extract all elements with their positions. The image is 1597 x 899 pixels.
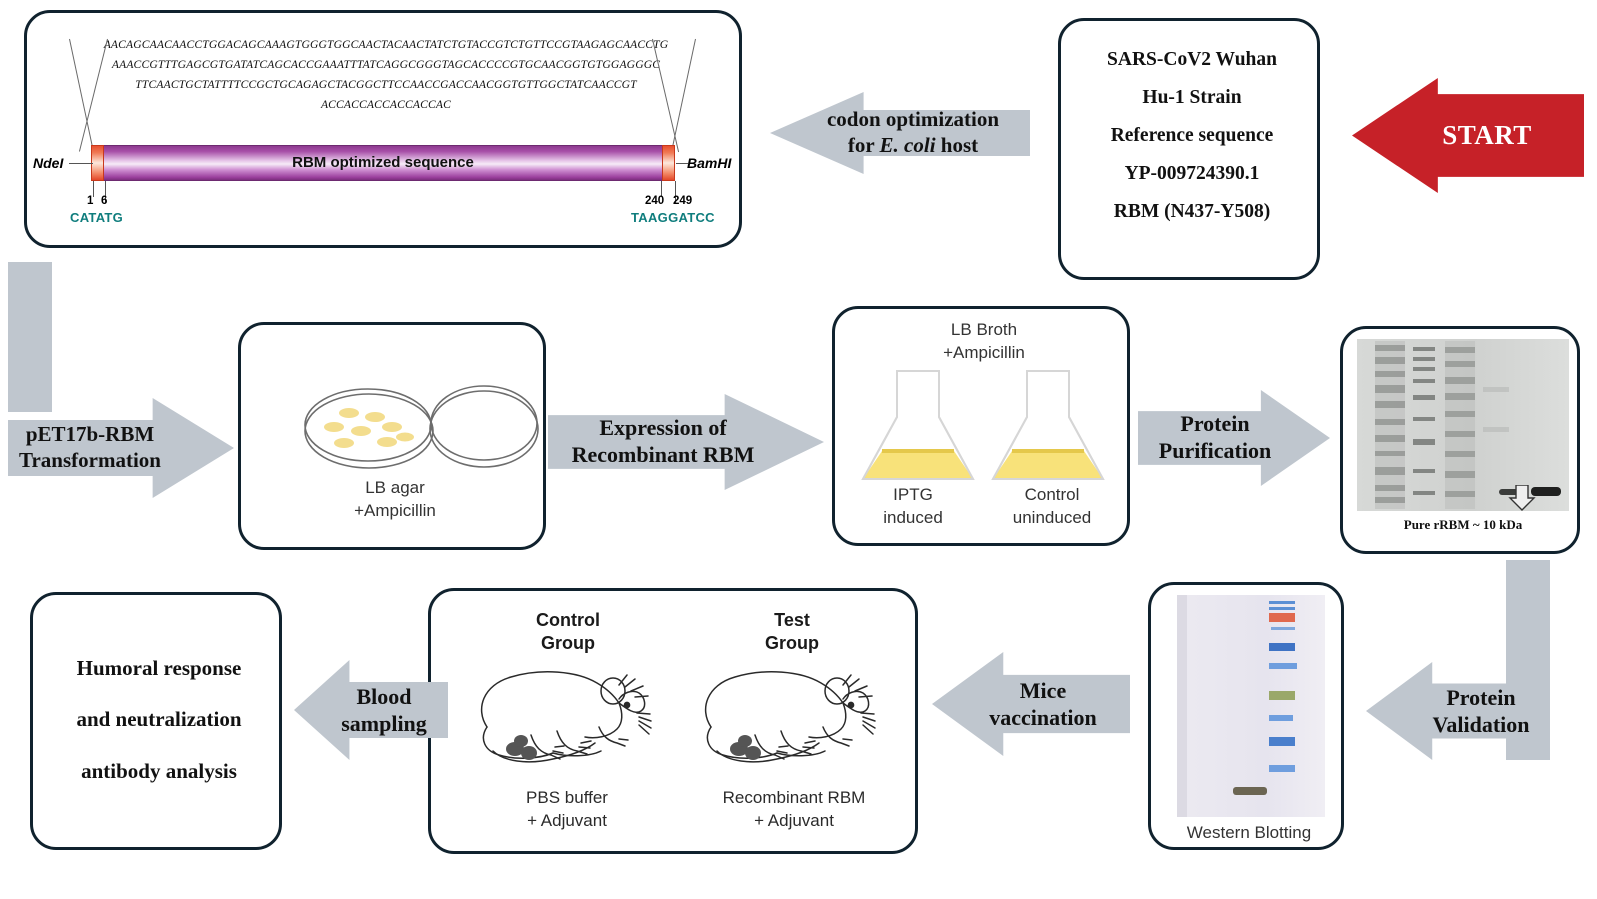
lb-broth-flask-box: LB Broth +Ampicillin IPTG induced Contro… [832, 306, 1130, 546]
right-enzyme-leader [676, 163, 688, 164]
reference-line-2: Hu-1 Strain [1061, 79, 1323, 117]
expression-arrow [548, 394, 824, 490]
gel-caption: Pure rRBM ~ 10 kDa [1343, 517, 1583, 533]
mice-vaccination-arrow [932, 652, 1130, 756]
left-enzyme-leader [69, 163, 93, 164]
results-box: Humoral response and neutralization anti… [30, 592, 282, 850]
number-249: 249 [673, 195, 692, 207]
cassette-label: RBM optimized sequence [91, 154, 675, 171]
reference-line-1: SARS-CoV2 Wuhan [1061, 41, 1323, 79]
reference-sequence-text: SARS-CoV2 Wuhan Hu-1 Strain Reference se… [1061, 41, 1323, 231]
reference-line-4: YP-009724390.1 [1061, 155, 1323, 193]
western-blot-caption: Western Blotting [1151, 823, 1347, 843]
left-enzyme-label: NdeI [33, 155, 63, 171]
test-group-subtitle: Recombinant RBM + Adjuvant [679, 787, 909, 833]
number-1: 1 [87, 195, 93, 207]
lb-agar-caption-line1: LB agar [241, 477, 549, 500]
sequence-line-3: TTCAACTGCTATTTTCCGCTGCAGAGCTACGGCTTCCAAC… [37, 75, 735, 95]
blood-sampling-arrow [294, 660, 448, 760]
control-sub-line1: PBS buffer [459, 787, 675, 810]
mice-groups-box: Control Group Test Group [428, 588, 918, 854]
iptg-label-line1: IPTG [853, 484, 973, 507]
number-6: 6 [101, 195, 107, 207]
results-text: Humoral response and neutralization anti… [33, 643, 285, 797]
protein-purification-arrow [1138, 390, 1330, 486]
control-label-line2: uninduced [987, 507, 1117, 530]
sequence-line-1: AACAGCAACAACCTGGACAGCAAAGTGGGTGGCAACTACA… [37, 35, 735, 55]
reference-line-3: Reference sequence [1061, 117, 1323, 155]
western-blot-image [1177, 595, 1325, 817]
start-label: START [1404, 120, 1532, 151]
reference-line-5: RBM (N437-Y508) [1061, 193, 1323, 231]
sds-page-gel-image [1357, 339, 1569, 511]
construct-box: AACAGCAACAACCTGGACAGCAAAGTGGGTGGCAACTACA… [24, 10, 742, 248]
lb-agar-plate-box: LB agar +Ampicillin [238, 322, 546, 550]
start-arrow: START [1352, 78, 1584, 193]
results-line-3: antibody analysis [33, 746, 285, 797]
gel-band-pointer-icon [1507, 485, 1537, 511]
results-line-2: and neutralization [33, 694, 285, 745]
lb-agar-caption: LB agar +Ampicillin [241, 477, 549, 523]
test-sub-line1: Recombinant RBM [679, 787, 909, 810]
bamhi-site-sequence: TAAGGATCC [631, 210, 715, 225]
optimized-sequence-block: AACAGCAACAACCTGGACAGCAAAGTGGGTGGCAACTACA… [37, 35, 735, 115]
ndei-site-sequence: CATATG [70, 210, 123, 225]
control-uninduced-label: Control uninduced [987, 484, 1117, 530]
pet17b-transformation-arrow [8, 262, 52, 412]
sequence-line-4: ACCACCACCACCACCAC [37, 95, 735, 115]
iptg-label-line2: induced [853, 507, 973, 530]
lb-agar-caption-line2: +Ampicillin [241, 500, 549, 523]
sds-page-gel-box: Pure rRBM ~ 10 kDa [1340, 326, 1580, 554]
reference-sequence-box: SARS-CoV2 Wuhan Hu-1 Strain Reference se… [1058, 18, 1320, 280]
results-line-1: Humoral response [33, 643, 285, 694]
workflow-figure: AACAGCAACAACCTGGACAGCAAAGTGGGTGGCAACTACA… [0, 0, 1597, 899]
sequence-line-2: AAACCGTTTGAGCGTGATATCAGCACCGAAATTTATCAGG… [37, 55, 735, 75]
pet17b-transformation-arrowhead [8, 398, 234, 498]
codon-optimization-arrow [770, 92, 1030, 174]
number-240: 240 [645, 195, 664, 207]
control-group-subtitle: PBS buffer + Adjuvant [459, 787, 675, 833]
western-blot-box: Western Blotting [1148, 582, 1344, 850]
control-label-line1: Control [987, 484, 1117, 507]
iptg-induced-label: IPTG induced [853, 484, 973, 530]
control-sub-line2: + Adjuvant [459, 810, 675, 833]
test-sub-line2: + Adjuvant [679, 810, 909, 833]
right-enzyme-label: BamHI [687, 155, 731, 171]
